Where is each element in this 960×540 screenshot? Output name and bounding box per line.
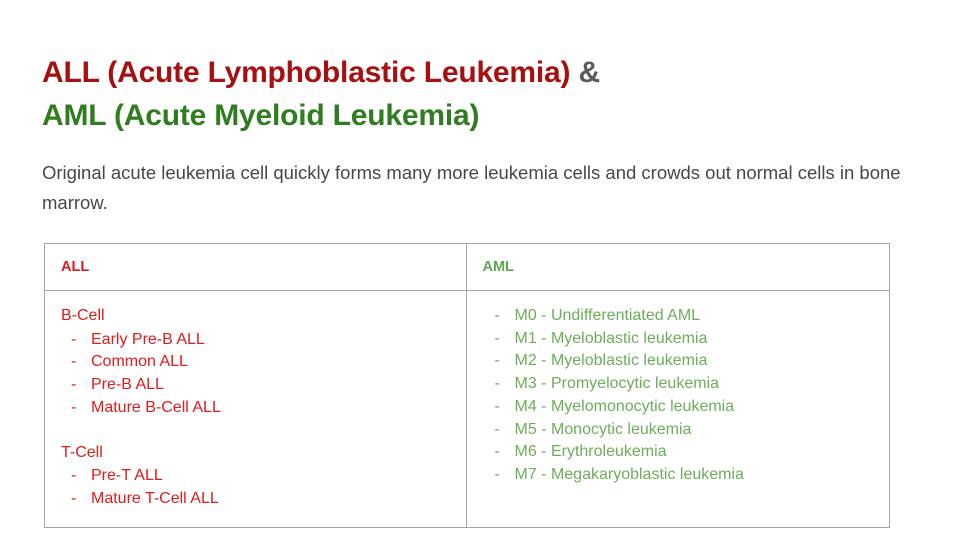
list-item-label: M7 - Megakaryoblastic leukemia [515, 464, 874, 487]
list-item: - Common ALL [61, 351, 450, 374]
list-item: - M3 - Promyelocytic leukemia [483, 373, 874, 396]
bullet-dash-icon: - [61, 329, 91, 352]
table-header-aml: AML [467, 244, 890, 290]
list-item: - Mature B-Cell ALL [61, 397, 450, 420]
group-label-b-cell: B-Cell [61, 305, 450, 328]
list-item: - M6 - Erythroleukemia [483, 441, 874, 464]
title-line-aml: AML (Acute Myeloid Leukemia) [42, 95, 922, 138]
list-item: - M7 - Megakaryoblastic leukemia [483, 464, 874, 487]
list-item-label: Early Pre-B ALL [91, 329, 450, 352]
list-item-label: M5 - Monocytic leukemia [515, 419, 874, 442]
table-body-row: B-Cell - Early Pre-B ALL - Common ALL - … [45, 291, 889, 527]
list-item-label: M1 - Myeloblastic leukemia [515, 328, 874, 351]
title-line-all: ALL (Acute Lymphoblastic Leukemia) & [42, 52, 922, 95]
group-spacer [61, 420, 450, 442]
list-item: - Early Pre-B ALL [61, 329, 450, 352]
bullet-dash-icon: - [483, 305, 515, 328]
list-item-label: Common ALL [91, 351, 450, 374]
list-item: - Pre-T ALL [61, 465, 450, 488]
table-header-row: ALL AML [45, 244, 889, 291]
title-ampersand: & [578, 56, 599, 89]
bullet-dash-icon: - [61, 374, 91, 397]
bullet-dash-icon: - [61, 397, 91, 420]
list-item: - M4 - Myelomonocytic leukemia [483, 396, 874, 419]
list-item-label: Mature T-Cell ALL [91, 488, 450, 511]
list-t-cell-subtypes: - Pre-T ALL - Mature T-Cell ALL [61, 465, 450, 510]
list-item: - M5 - Monocytic leukemia [483, 419, 874, 442]
list-item-label: M2 - Myeloblastic leukemia [515, 350, 874, 373]
list-item: - M2 - Myeloblastic leukemia [483, 350, 874, 373]
list-b-cell-subtypes: - Early Pre-B ALL - Common ALL - Pre-B A… [61, 329, 450, 420]
bullet-dash-icon: - [61, 488, 91, 511]
list-item-label: Mature B-Cell ALL [91, 397, 450, 420]
page-title: ALL (Acute Lymphoblastic Leukemia) & AML… [42, 52, 922, 137]
group-label-t-cell: T-Cell [61, 442, 450, 465]
table-cell-all: B-Cell - Early Pre-B ALL - Common ALL - … [45, 291, 467, 527]
list-aml-subtypes: - M0 - Undifferentiated AML - M1 - Myelo… [483, 305, 874, 487]
subtitle-text: Original acute leukemia cell quickly for… [42, 158, 902, 218]
list-item-label: M0 - Undifferentiated AML [515, 305, 874, 328]
list-item-label: Pre-T ALL [91, 465, 450, 488]
bullet-dash-icon: - [483, 396, 515, 419]
bullet-dash-icon: - [61, 465, 91, 488]
title-aml-text: AML (Acute Myeloid Leukemia) [42, 99, 479, 132]
list-item: - Mature T-Cell ALL [61, 488, 450, 511]
list-item: - Pre-B ALL [61, 374, 450, 397]
list-item: - M1 - Myeloblastic leukemia [483, 328, 874, 351]
bullet-dash-icon: - [483, 441, 515, 464]
bullet-dash-icon: - [483, 328, 515, 351]
list-item-label: M6 - Erythroleukemia [515, 441, 874, 464]
bullet-dash-icon: - [61, 351, 91, 374]
list-item-label: Pre-B ALL [91, 374, 450, 397]
title-all-text: ALL (Acute Lymphoblastic Leukemia) [42, 56, 570, 89]
table-cell-aml: - M0 - Undifferentiated AML - M1 - Myelo… [467, 291, 890, 527]
list-item: - M0 - Undifferentiated AML [483, 305, 874, 328]
slide-canvas: ALL (Acute Lymphoblastic Leukemia) & AML… [0, 0, 960, 540]
list-item-label: M3 - Promyelocytic leukemia [515, 373, 874, 396]
bullet-dash-icon: - [483, 373, 515, 396]
bullet-dash-icon: - [483, 350, 515, 373]
table-header-all: ALL [45, 244, 467, 290]
bullet-dash-icon: - [483, 419, 515, 442]
comparison-table: ALL AML B-Cell - Early Pre-B ALL - Commo… [44, 243, 890, 528]
bullet-dash-icon: - [483, 464, 515, 487]
list-item-label: M4 - Myelomonocytic leukemia [515, 396, 874, 419]
